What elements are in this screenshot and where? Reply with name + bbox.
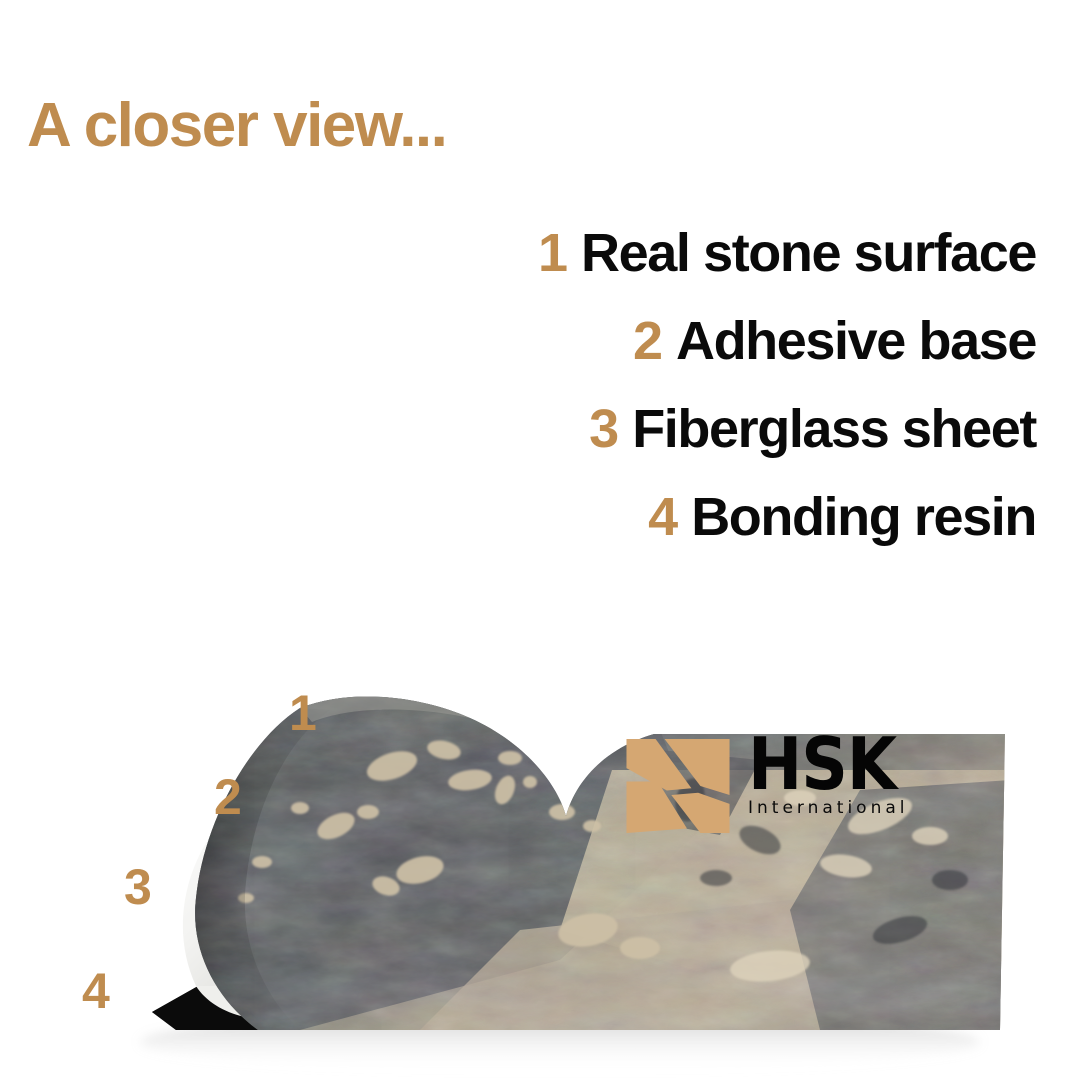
legend-number-4: 4	[648, 486, 677, 548]
legend-number-3: 3	[589, 398, 618, 460]
logo-tagline: International	[748, 798, 909, 818]
logo-text-block: HSK International	[748, 730, 909, 818]
legend-label-1: Real stone surface	[581, 222, 1036, 284]
list-item: 4 Bonding resin	[648, 486, 1036, 548]
poster-canvas: A closer view... 1 Real stone surface 2 …	[0, 0, 1080, 1080]
layer-legend-list: 1 Real stone surface 2 Adhesive base 3 F…	[538, 222, 1036, 548]
legend-label-2: Adhesive base	[676, 310, 1036, 372]
callout-number-4: 4	[82, 966, 109, 1016]
list-item: 3 Fiberglass sheet	[589, 398, 1036, 460]
legend-number-1: 1	[538, 222, 567, 284]
legend-label-3: Fiberglass sheet	[632, 398, 1036, 460]
logo-wordmark: HSK	[748, 734, 909, 794]
callout-number-2: 2	[214, 772, 241, 822]
layered-veneer-illustration	[0, 630, 1080, 1080]
list-item: 1 Real stone surface	[538, 222, 1036, 284]
list-item: 2 Adhesive base	[633, 310, 1036, 372]
callout-number-1: 1	[289, 688, 316, 738]
legend-label-4: Bonding resin	[691, 486, 1036, 548]
legend-number-2: 2	[633, 310, 662, 372]
brand-logo: HSK International	[622, 730, 909, 842]
hsk-diagonal-mark-icon	[622, 730, 734, 842]
callout-number-3: 3	[124, 862, 151, 912]
page-title: A closer view...	[27, 95, 446, 157]
